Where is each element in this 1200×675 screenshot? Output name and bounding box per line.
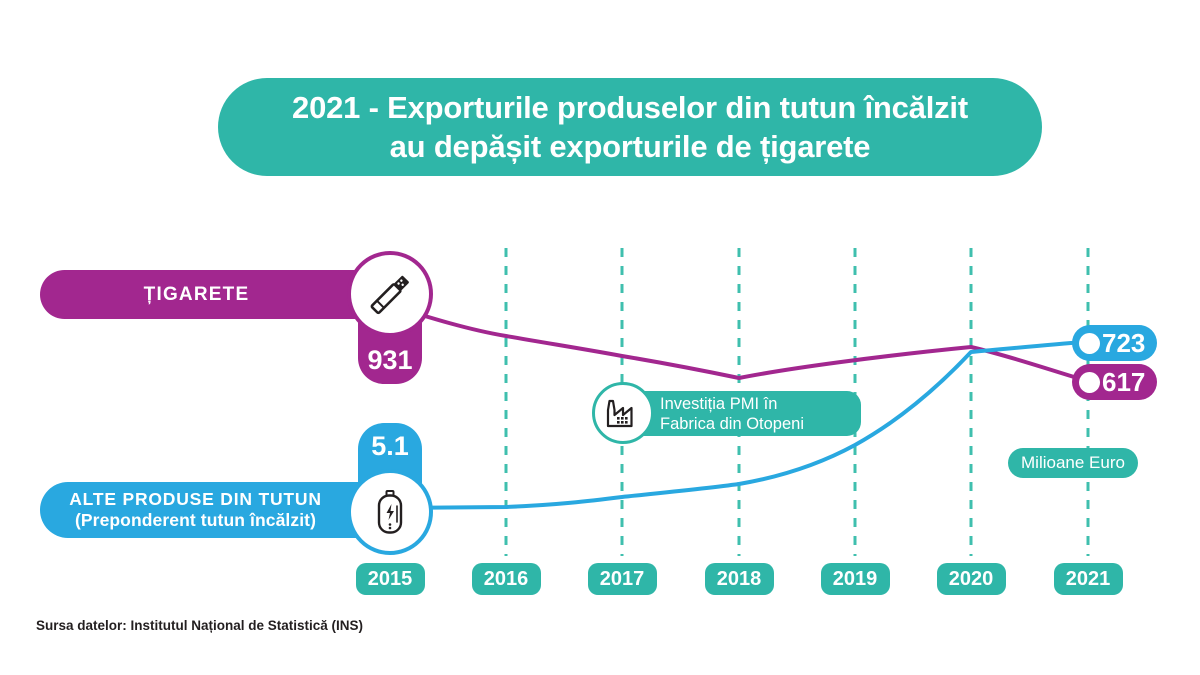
source-note: Sursa datelor: Institutul Național de St… <box>36 618 363 633</box>
annotation-pmi-investment[interactable]: Investiția PMI în Fabrica din Otopeni <box>618 391 861 436</box>
unit-badge: Milioane Euro <box>1008 448 1138 478</box>
value-badge-other-tobacco-start-text: 5.1 <box>371 431 409 462</box>
factory-icon <box>603 393 643 433</box>
year-tag-2019[interactable]: 2019 <box>821 563 890 595</box>
year-tag-2016[interactable]: 2016 <box>472 563 541 595</box>
annotation-line-1: Investiția PMI în <box>660 394 861 414</box>
heated-tobacco-device-icon-marker[interactable] <box>347 469 433 555</box>
legend-cigarettes-label: ȚIGARETE <box>144 284 292 306</box>
year-tag-2015[interactable]: 2015 <box>356 563 425 595</box>
legend-other-tobacco-label-line2: (Preponderent tutun încălzit) <box>69 510 322 531</box>
infographic-root: 2021 - Exporturile produselor din tutun … <box>0 0 1200 675</box>
factory-icon-marker <box>592 382 654 444</box>
legend-other-tobacco[interactable]: ALTE PRODUSE DIN TUTUN (Preponderent tut… <box>40 482 395 538</box>
year-tag-2020[interactable]: 2020 <box>937 563 1006 595</box>
heated-tobacco-device-icon <box>364 486 416 538</box>
legend-cigarettes[interactable]: ȚIGARETE <box>40 270 395 319</box>
series-endpoint-dot-blue <box>1079 333 1100 354</box>
value-badge-other-tobacco-end-text: 723 <box>1102 328 1157 359</box>
series-line-cigarettes <box>390 305 1084 380</box>
value-badge-cigarettes-start-text: 931 <box>367 345 412 376</box>
year-tag-2018[interactable]: 2018 <box>705 563 774 595</box>
series-endpoint-dot-magenta <box>1079 372 1100 393</box>
annotation-line-2: Fabrica din Otopeni <box>660 414 861 434</box>
cigarette-icon <box>362 266 418 322</box>
value-badge-cigarettes-end-text: 617 <box>1102 367 1157 398</box>
legend-other-tobacco-label-line1: ALTE PRODUSE DIN TUTUN <box>69 489 322 510</box>
value-badge-cigarettes-end: 617 <box>1072 364 1157 400</box>
year-tag-2017[interactable]: 2017 <box>588 563 657 595</box>
year-tag-2021[interactable]: 2021 <box>1054 563 1123 595</box>
value-badge-other-tobacco-end: 723 <box>1072 325 1157 361</box>
cigarette-icon-marker[interactable] <box>347 251 433 337</box>
